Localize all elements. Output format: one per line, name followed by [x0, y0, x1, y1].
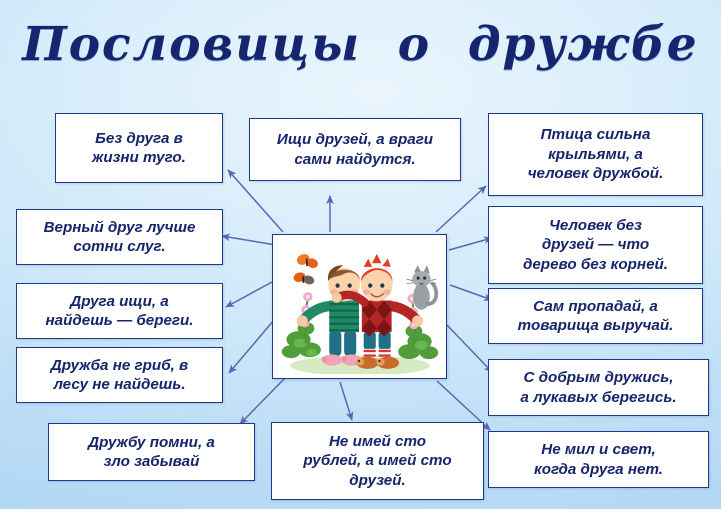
two-friends-illustration: [272, 234, 447, 379]
proverb-box-druzhba-ne-grib: Дружба не гриб, в лесу не найдешь.: [16, 347, 223, 403]
proverb-box-druzhbu-pomni: Дружбу помни, а зло забывай: [48, 423, 255, 481]
proverb-box-ne-imey-sto: Не имей сто рублей, а имей сто друзей.: [271, 422, 484, 500]
illustration-svg: [277, 239, 442, 374]
proverb-box-chelovek-bez: Человек без друзей — что дерево без корн…: [488, 206, 703, 284]
proverb-box-sam-propaday: Сам пропадай, а товарища выручай.: [488, 288, 703, 344]
proverb-box-ishchi-druzey: Ищи друзей, а враги сами найдутся.: [249, 118, 461, 181]
proverb-box-druga-ishchi: Друга ищи, а найдешь — береги.: [16, 283, 223, 339]
proverb-box-bez-druga: Без друга в жизни туго.: [55, 113, 223, 183]
poster-canvas: Пословицы о дружбе: [0, 0, 721, 509]
proverb-box-ptica-silna: Птица сильна крыльями, а человек дружбой…: [488, 113, 703, 196]
proverb-box-verniy-drug: Верный друг лучше сотни слуг.: [16, 209, 223, 265]
proverb-box-s-dobrym: С добрым дружись, а лукавых берегись.: [488, 359, 709, 416]
proverb-box-ne-mil-i-svet: Не мил и свет, когда друга нет.: [488, 431, 709, 488]
page-title: Пословицы о дружбе: [0, 16, 721, 74]
